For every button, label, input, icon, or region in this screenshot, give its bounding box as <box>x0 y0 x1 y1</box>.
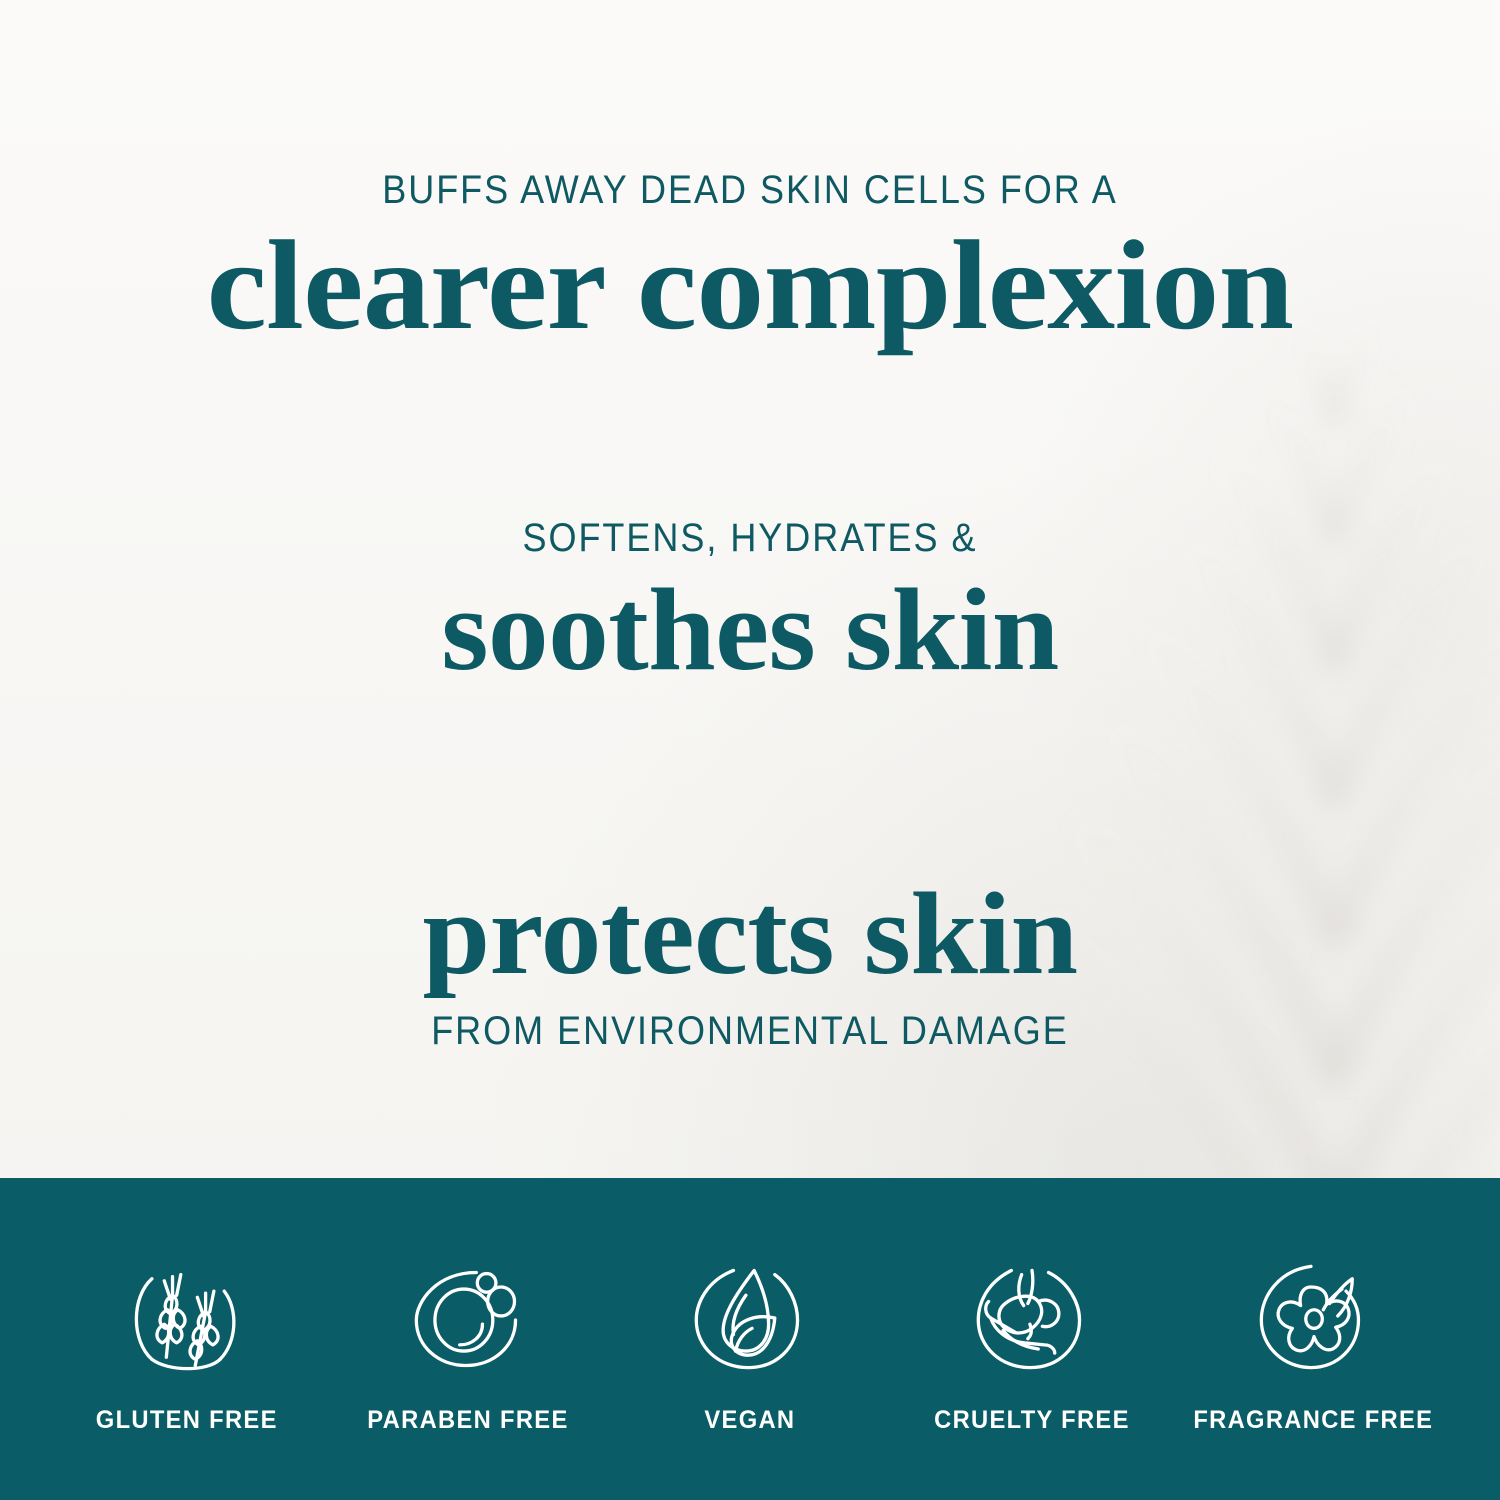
bubbles-icon <box>406 1256 530 1380</box>
benefit-block-soothes-skin: SOFTENS, HYDRATES & soothes skin <box>0 516 1500 689</box>
benefit-headline: protects skin <box>0 875 1500 993</box>
benefit-headline: soothes skin <box>0 571 1500 689</box>
claim-fragrance-free: FRAGRANCE FREE <box>1172 1244 1454 1435</box>
product-benefits-infographic: BUFFS AWAY DEAD SKIN CELLS FOR A clearer… <box>0 0 1500 1500</box>
claim-label: CRUELTY FREE <box>934 1406 1130 1435</box>
benefit-block-protects-skin: protects skin FROM ENVIRONMENTAL DAMAGE <box>0 875 1500 1054</box>
claim-label: VEGAN <box>704 1406 795 1435</box>
claim-label: PARABEN FREE <box>368 1406 569 1435</box>
wheat-stalks-icon <box>125 1256 249 1380</box>
benefit-headline: clearer complexion <box>0 221 1500 349</box>
bunny-in-hand-icon <box>970 1256 1094 1380</box>
benefit-eyebrow: SOFTENS, HYDRATES & <box>75 516 1425 561</box>
benefit-subline: FROM ENVIRONMENTAL DAMAGE <box>75 1009 1425 1054</box>
claims-bar: GLUTEN FREE PARABEN FREE <box>0 1178 1500 1500</box>
leaf-drop-icon <box>688 1256 812 1380</box>
claim-paraben-free: PARABEN FREE <box>328 1244 610 1435</box>
claim-vegan: VEGAN <box>609 1244 891 1435</box>
claim-cruelty-free: CRUELTY FREE <box>891 1244 1173 1435</box>
claim-label: FRAGRANCE FREE <box>1193 1406 1433 1435</box>
benefit-block-clearer-complexion: BUFFS AWAY DEAD SKIN CELLS FOR A clearer… <box>0 168 1500 349</box>
claim-label: GLUTEN FREE <box>96 1406 278 1435</box>
flower-leaf-icon <box>1251 1256 1375 1380</box>
benefit-eyebrow: BUFFS AWAY DEAD SKIN CELLS FOR A <box>75 168 1425 213</box>
claim-gluten-free: GLUTEN FREE <box>46 1244 328 1435</box>
benefits-content: BUFFS AWAY DEAD SKIN CELLS FOR A clearer… <box>0 0 1500 1178</box>
